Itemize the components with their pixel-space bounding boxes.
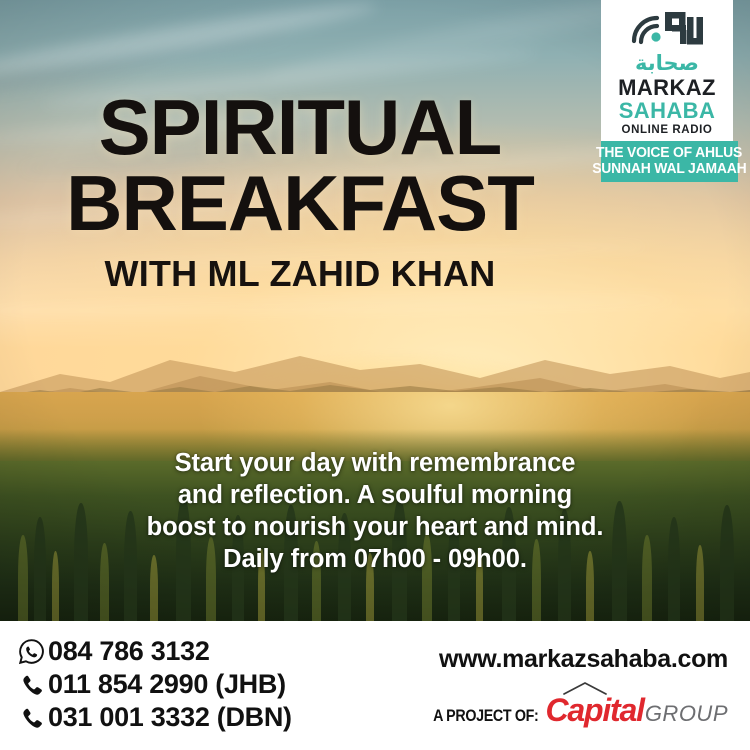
markaz-sahaba-logo-card: صحابة MARKAZ SAHABA ONLINE RADIO	[601, 0, 733, 141]
promotional-poster: SPIRITUAL BREAKFAST WITH ML ZAHID KHAN S…	[0, 0, 750, 750]
tagline-line-2: SUNNAH WAL JAMAAH	[592, 162, 746, 177]
whatsapp-icon	[14, 638, 48, 665]
sponsor-row: A PROJECT OF: Capital GROUP	[413, 692, 728, 729]
body-copy-line: Start your day with remembrance	[0, 448, 750, 480]
brand-tagline-banner: THE VOICE OF AHLUS SUNNAH WAL JAMAAH	[601, 141, 738, 182]
body-copy-line: boost to nourish your heart and mind.	[0, 512, 750, 544]
tagline-line-1: THE VOICE OF AHLUS	[596, 146, 742, 161]
body-copy-line: Daily from 07h00 - 09h00.	[0, 544, 750, 576]
brand-name-markaz: MARKAZ	[618, 77, 716, 99]
radio-wave-arabic-mark-icon	[624, 8, 710, 52]
brand-name-sahaba: SAHABA	[619, 100, 716, 122]
contact-list: 084 786 3132 011 854 2990 (JHB) 031 001 …	[14, 635, 292, 734]
headline-subtitle: WITH ML ZAHID KHAN	[0, 256, 600, 292]
sponsor-name: Capital	[546, 692, 644, 729]
website-url[interactable]: www.markazsahaba.com	[413, 645, 728, 674]
footer-bar: 084 786 3132 011 854 2990 (JHB) 031 001 …	[0, 621, 750, 750]
headline-line-2: BREAKFAST	[0, 168, 600, 240]
sponsor-suffix: GROUP	[645, 701, 728, 727]
arabic-script-label: صحابة	[635, 53, 699, 74]
hero-background-photo: SPIRITUAL BREAKFAST WITH ML ZAHID KHAN S…	[0, 0, 750, 621]
contact-row[interactable]: 011 854 2990 (JHB)	[14, 668, 292, 701]
phone-icon	[14, 673, 48, 697]
body-copy-line: and reflection. A soulful morning	[0, 480, 750, 512]
project-of-label: A PROJECT OF:	[433, 706, 538, 726]
headline-line-1: SPIRITUAL	[0, 92, 600, 164]
roof-outline-icon	[563, 681, 607, 695]
capital-group-logo: Capital GROUP	[546, 692, 728, 729]
contact-number: 011 854 2990 (JHB)	[48, 669, 286, 700]
body-copy-block: Start your day with remembrance and refl…	[0, 448, 750, 576]
headline-block: SPIRITUAL BREAKFAST WITH ML ZAHID KHAN	[0, 92, 600, 292]
contact-row[interactable]: 084 786 3132	[14, 635, 292, 668]
contact-number: 031 001 3332 (DBN)	[48, 702, 292, 733]
contact-row[interactable]: 031 001 3332 (DBN)	[14, 701, 292, 734]
footer-right-column: www.markazsahaba.com A PROJECT OF: Capit…	[413, 645, 728, 729]
phone-icon	[14, 706, 48, 730]
contact-number: 084 786 3132	[48, 636, 210, 667]
brand-descriptor: ONLINE RADIO	[622, 125, 713, 137]
